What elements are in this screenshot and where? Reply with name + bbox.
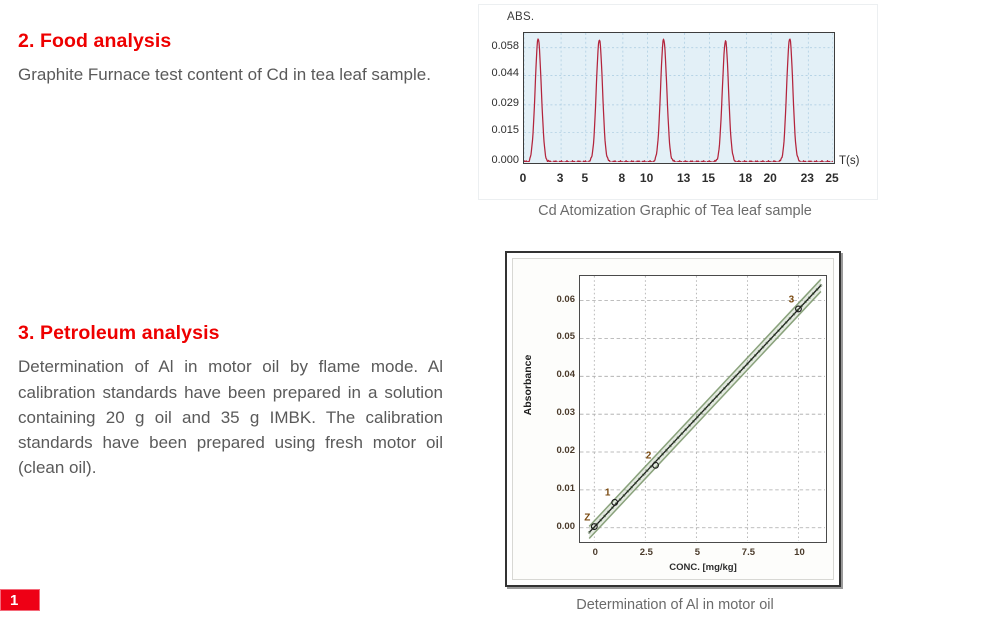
atomization-x-tick: 8 xyxy=(619,171,626,185)
calibration-y-tick: 0.03 xyxy=(557,407,576,418)
atomization-x-axis-title: T(s) xyxy=(839,155,859,167)
text-column: 2. Food analysis Graphite Furnace test c… xyxy=(18,0,458,642)
atomization-y-tick: 0.000 xyxy=(491,154,519,166)
calibration-y-tick: 0.04 xyxy=(557,369,576,380)
figure-cd-atomization: ABS. 0.0000.0150.0290.0440.058 035810131… xyxy=(478,4,878,200)
calibration-y-tick: 0.02 xyxy=(557,445,576,456)
calibration-y-tick: 0.01 xyxy=(557,483,576,494)
atomization-y-tick: 0.029 xyxy=(491,97,519,109)
section-petroleum-heading: 3. Petroleum analysis xyxy=(18,322,448,345)
atomization-x-tick: 10 xyxy=(640,171,653,185)
calibration-fit-and-points xyxy=(580,276,825,541)
atomization-y-tick: 0.044 xyxy=(491,67,519,79)
atomization-x-tick: 25 xyxy=(825,171,838,185)
section-petroleum-body: Determination of Al in motor oil by flam… xyxy=(18,354,443,480)
calibration-x-tick: 7.5 xyxy=(742,547,755,558)
page-number-badge: 1 xyxy=(0,589,40,611)
calibration-plot-area: Z123 xyxy=(579,275,827,543)
atomization-x-tick: 0 xyxy=(520,171,527,185)
calibration-x-tick: 2.5 xyxy=(640,547,653,558)
calibration-x-tick-labels: 02.557.510 xyxy=(579,547,827,563)
atomization-x-tick: 20 xyxy=(764,171,777,185)
calibration-y-tick-labels: 0.000.010.020.030.040.050.06 xyxy=(521,269,575,549)
section-food-body: Graphite Furnace test content of Cd in t… xyxy=(18,62,446,87)
section-food-heading: 2. Food analysis xyxy=(18,30,448,53)
calibration-point-label: 2 xyxy=(646,451,652,462)
figure-al-calibration: Absorbance 0.000.010.020.030.040.050.06 … xyxy=(505,251,841,587)
caption-cd-atomization: Cd Atomization Graphic of Tea leaf sampl… xyxy=(470,203,880,219)
caption-al-calibration: Determination of Al in motor oil xyxy=(470,597,880,613)
section-petroleum-analysis: 3. Petroleum analysis Determination of A… xyxy=(18,322,448,480)
calibration-inner-frame: Absorbance 0.000.010.020.030.040.050.06 … xyxy=(512,258,834,580)
atomization-y-axis-title: ABS. xyxy=(507,11,534,23)
calibration-x-tick: 0 xyxy=(593,547,598,558)
calibration-x-tick: 10 xyxy=(794,547,805,558)
calibration-y-tick: 0.06 xyxy=(557,294,576,305)
atomization-x-tick: 3 xyxy=(557,171,564,185)
calibration-x-axis-title: CONC. [mg/kg] xyxy=(579,562,827,573)
atomization-x-tick: 5 xyxy=(581,171,588,185)
atomization-x-tick-labels: 035810131518202325 xyxy=(523,171,835,191)
atomization-y-tick: 0.015 xyxy=(491,124,519,136)
atomization-plot-area xyxy=(523,32,835,164)
figure-column: ABS. 0.0000.0150.0290.0440.058 035810131… xyxy=(470,0,990,642)
calibration-y-tick: 0.00 xyxy=(557,521,576,532)
section-food-analysis: 2. Food analysis Graphite Furnace test c… xyxy=(18,30,448,88)
atomization-y-tick-labels: 0.0000.0150.0290.0440.058 xyxy=(479,27,521,169)
atomization-x-tick: 13 xyxy=(677,171,690,185)
calibration-point-label: 1 xyxy=(605,488,611,499)
atomization-x-tick: 23 xyxy=(801,171,814,185)
atomization-y-tick: 0.058 xyxy=(491,40,519,52)
calibration-point-label: Z xyxy=(584,512,590,523)
calibration-y-tick: 0.05 xyxy=(557,331,576,342)
atomization-x-tick: 18 xyxy=(739,171,752,185)
calibration-x-tick: 5 xyxy=(695,547,700,558)
atomization-trace xyxy=(524,33,833,162)
calibration-point-label: 3 xyxy=(789,294,795,305)
atomization-x-tick: 15 xyxy=(702,171,715,185)
